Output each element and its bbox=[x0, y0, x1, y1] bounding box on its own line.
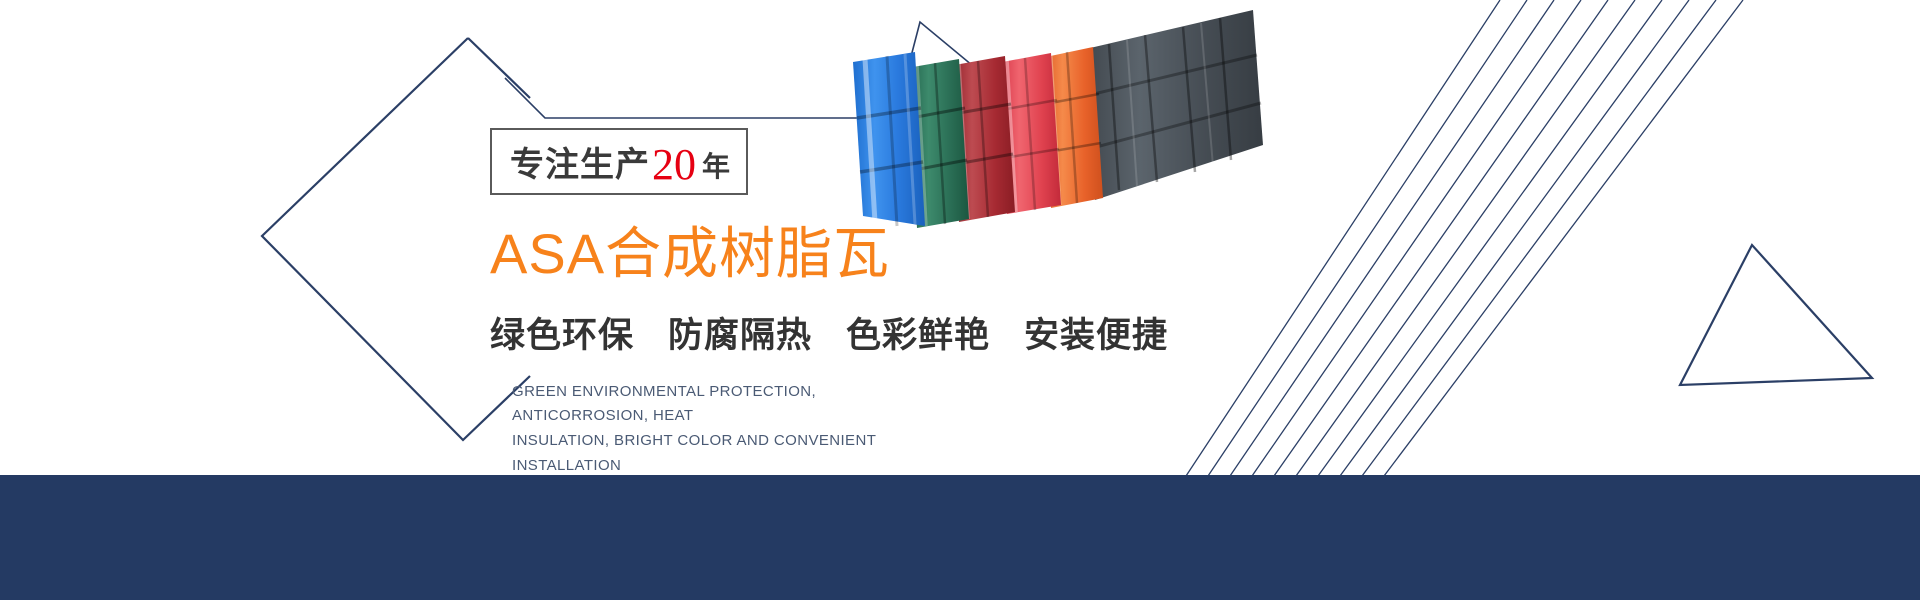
feature-item-1: 绿色环保 bbox=[490, 307, 634, 358]
page-title: ASA合成树脂瓦 bbox=[490, 223, 1310, 285]
badge-suffix-text: 年 bbox=[698, 145, 730, 185]
promo-banner: 专注生产 20 年 ASA合成树脂瓦 绿色环保 防腐隔热 色彩鲜艳 安装便捷 G… bbox=[0, 0, 1920, 600]
bottom-navy-bar bbox=[0, 475, 1920, 600]
experience-badge-inner: 专注生产 20 年 bbox=[510, 137, 730, 186]
feature-item-4: 安装便捷 bbox=[1024, 307, 1168, 358]
experience-badge: 专注生产 20 年 bbox=[490, 128, 748, 195]
banner-text-block: 专注生产 20 年 ASA合成树脂瓦 绿色环保 防腐隔热 色彩鲜艳 安装便捷 G… bbox=[490, 128, 1310, 479]
english-subtitle-line-2: INSULATION, BRIGHT COLOR AND CONVENIENT … bbox=[512, 429, 942, 479]
english-subtitle: GREEN ENVIRONMENTAL PROTECTION, ANTICORR… bbox=[512, 380, 942, 479]
badge-years-number: 20 bbox=[650, 145, 698, 185]
badge-prefix-text: 专注生产 bbox=[510, 137, 650, 186]
feature-list: 绿色环保 防腐隔热 色彩鲜艳 安装便捷 bbox=[490, 307, 1310, 358]
feature-item-3: 色彩鲜艳 bbox=[846, 307, 990, 358]
feature-item-2: 防腐隔热 bbox=[668, 307, 812, 358]
english-subtitle-line-1: GREEN ENVIRONMENTAL PROTECTION, ANTICORR… bbox=[512, 380, 942, 430]
navy-triangle-outline-right bbox=[1680, 245, 1872, 385]
